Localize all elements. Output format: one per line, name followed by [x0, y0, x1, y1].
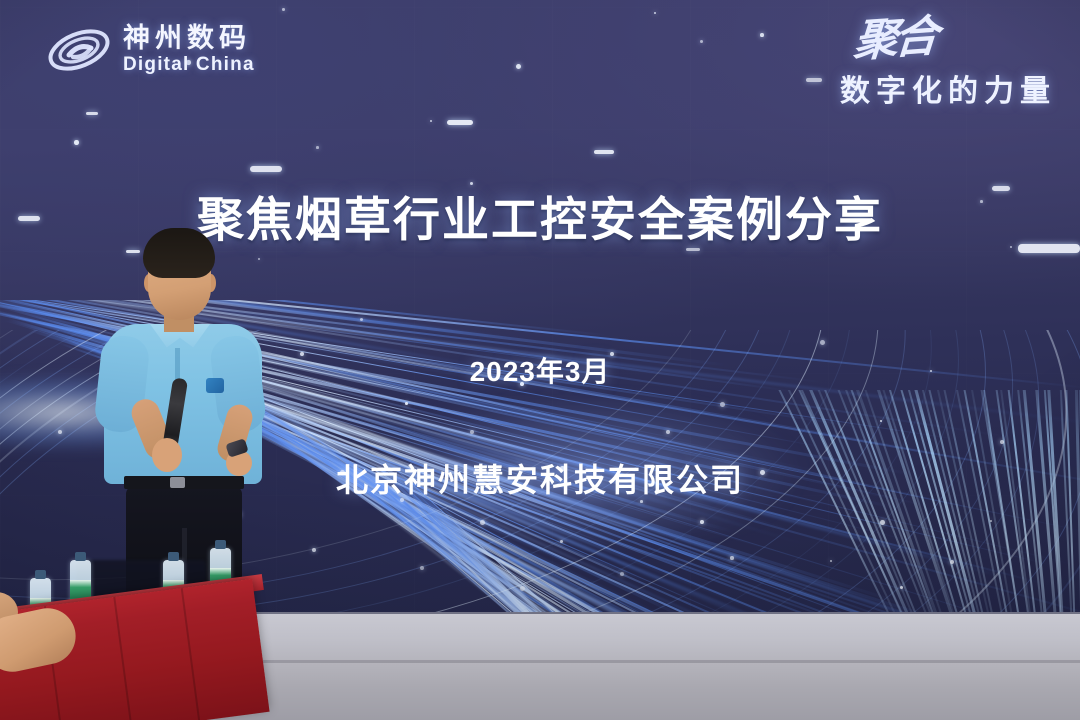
event-slogan: 数字化的力量 [840, 66, 1056, 110]
bottle-cap [75, 552, 86, 561]
brand-name-en: Digital China [123, 54, 255, 76]
speaker-placket [175, 348, 180, 382]
digital-china-logo: 神州数码 Digital China [45, 22, 255, 78]
speaker-left-hand [152, 438, 182, 472]
tablecloth-fold [181, 588, 200, 720]
shirt-logo-badge [206, 378, 224, 393]
digital-china-swirl-icon [45, 22, 113, 78]
bottle-cap [168, 552, 179, 561]
conference-photo: 神州数码 Digital China 聚合 数字化的力量 聚焦烟草行业工控安全案… [0, 0, 1080, 720]
event-logo: 聚合 数字化的力量 [840, 18, 1056, 110]
event-calligraphy: 聚合 [838, 15, 936, 65]
belt-buckle [170, 477, 185, 488]
tablecloth-fold [113, 597, 132, 720]
bottle-cap [35, 570, 46, 579]
bottle-cap [215, 540, 226, 549]
brand-name-cn: 神州数码 [123, 24, 255, 52]
speaker-hair [143, 228, 215, 278]
